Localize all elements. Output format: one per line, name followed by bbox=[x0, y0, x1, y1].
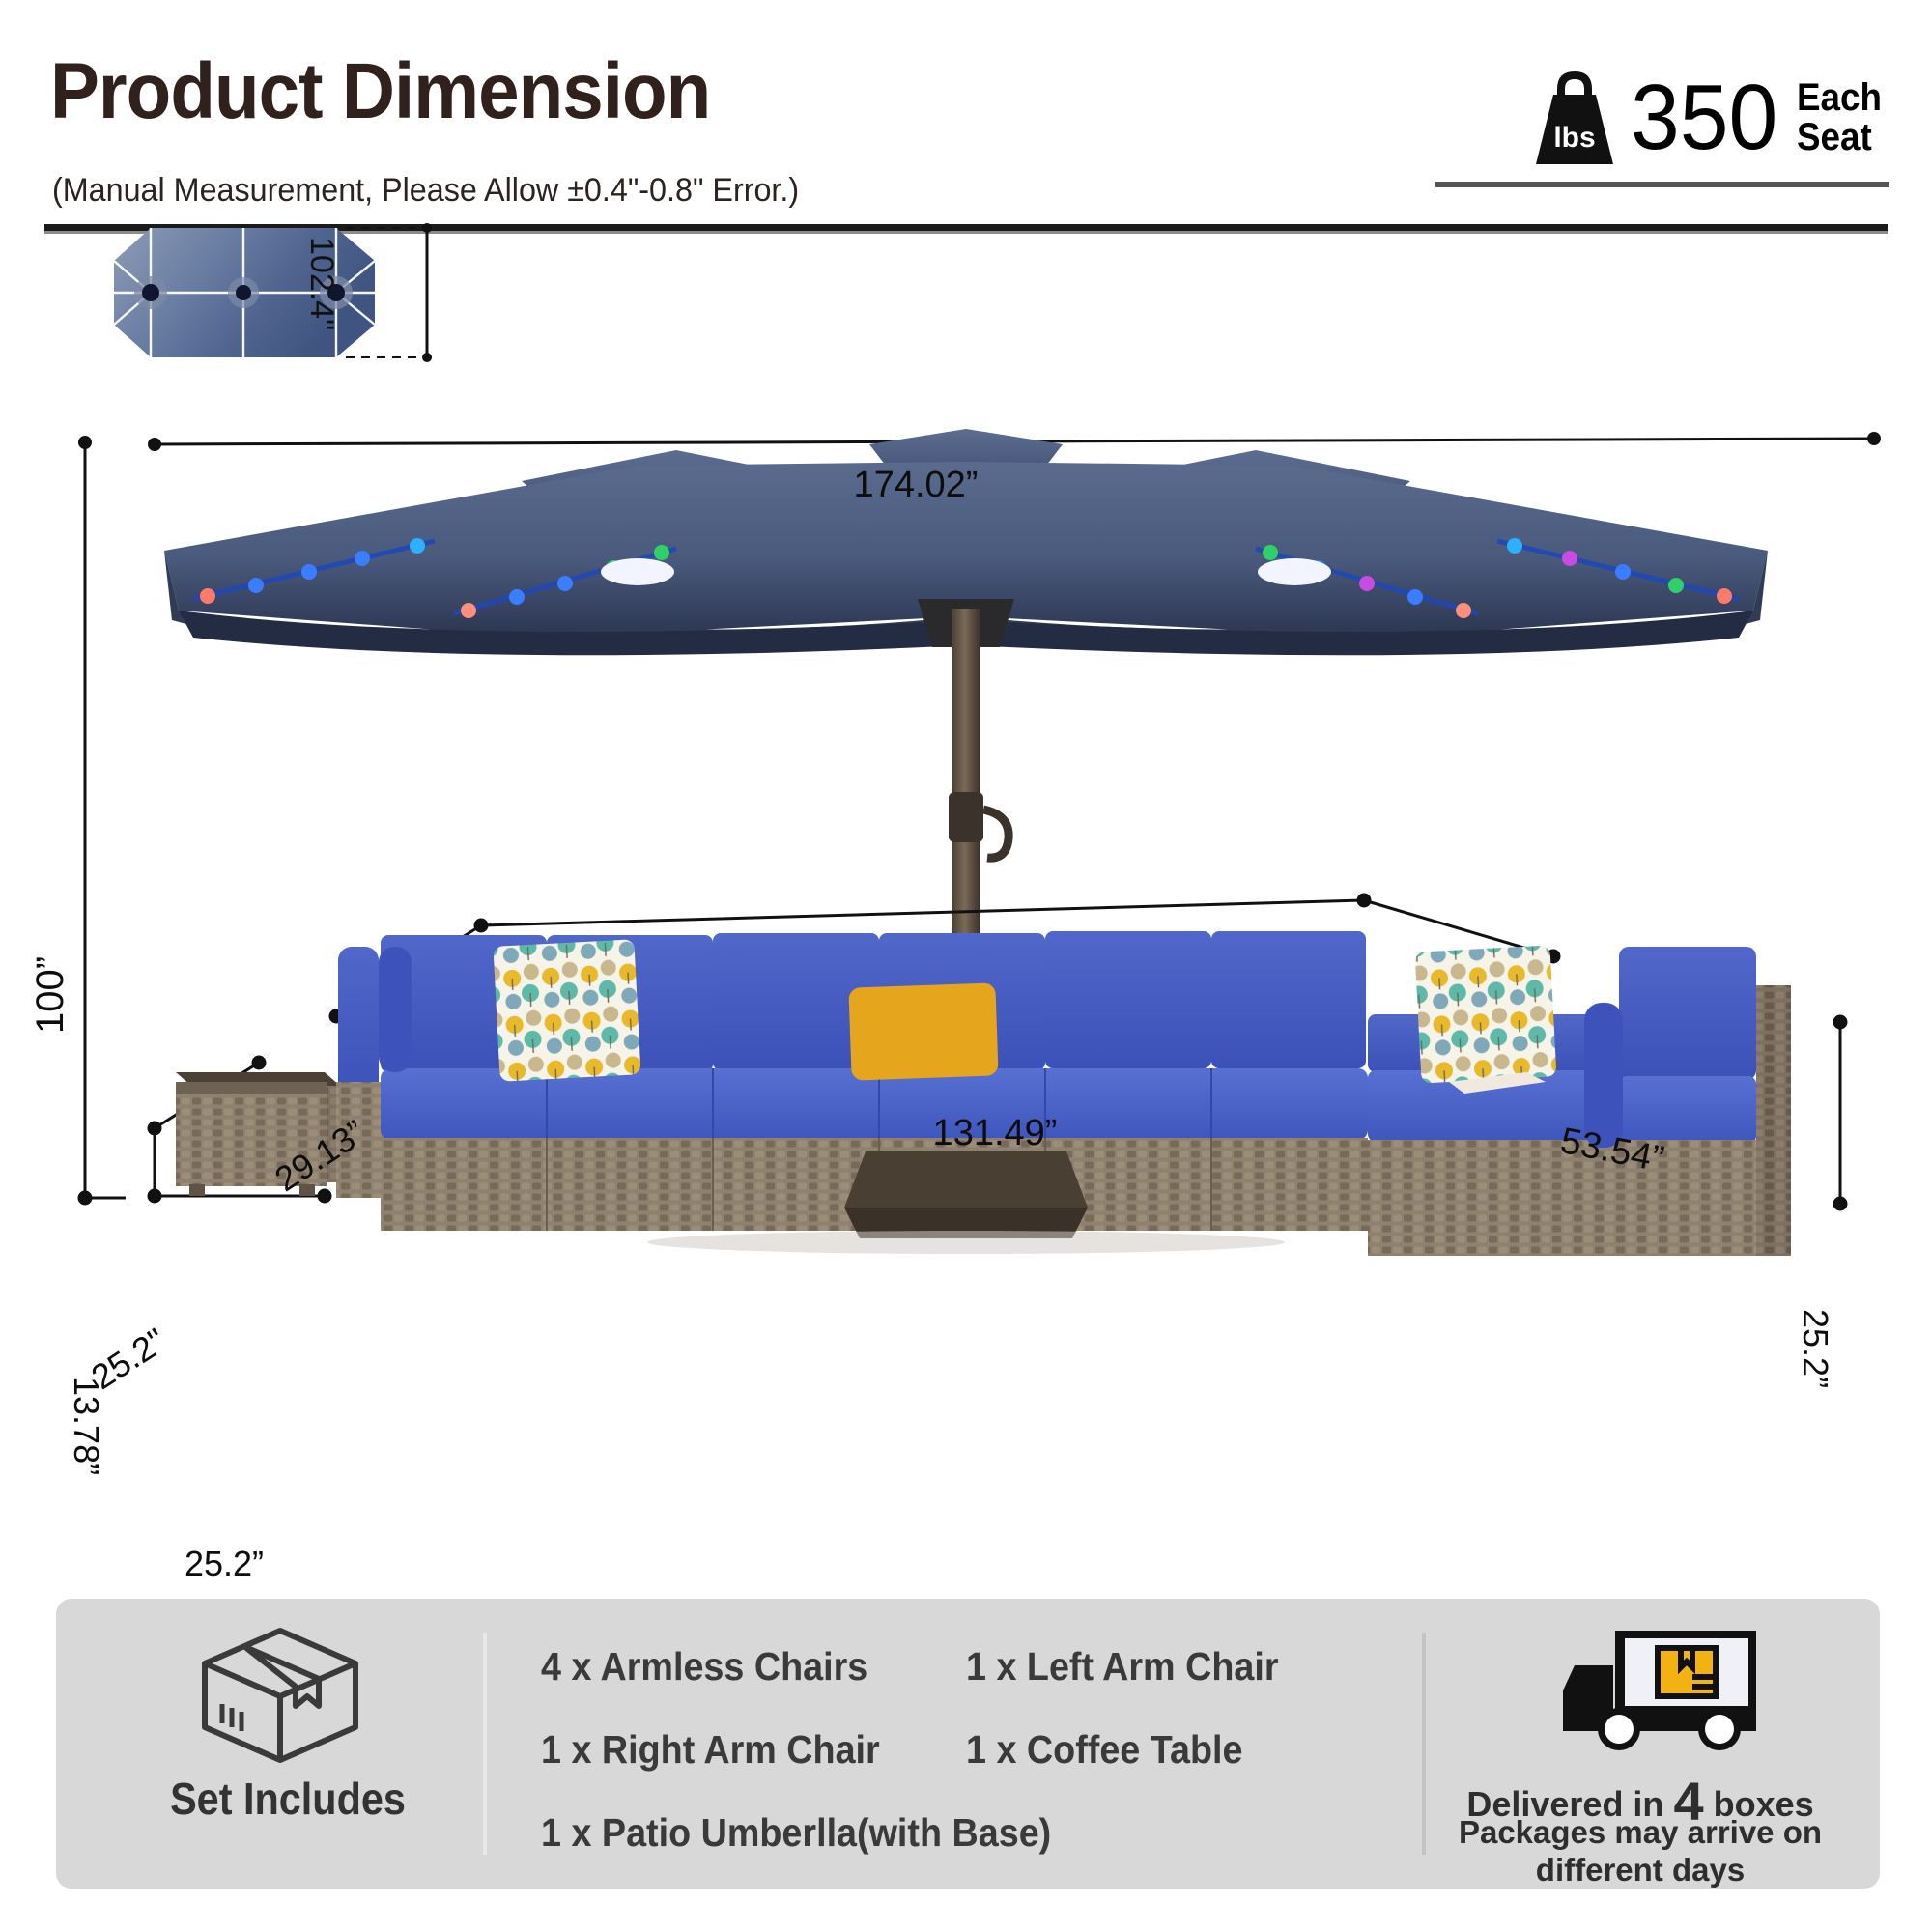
package-box-icon bbox=[193, 1623, 367, 1768]
weight-value: 350 bbox=[1631, 73, 1777, 161]
weight-qualifier-line1: Each bbox=[1797, 78, 1882, 118]
umbrella-top-view-diagram bbox=[56, 211, 462, 404]
throw-pillow-left bbox=[493, 939, 640, 1081]
weight-qualifier-line2: Seat bbox=[1797, 118, 1882, 157]
ceiling-light-left bbox=[601, 558, 674, 585]
set-includes-label: Set Includes bbox=[157, 1773, 418, 1825]
list-item: 1 x Right Arm Chair bbox=[541, 1727, 880, 1773]
weight-capacity-badge: lbs 350 Each Seat bbox=[1528, 56, 1889, 180]
set-includes-list: 4 x Armless Chairs 1 x Left Arm Chair 1 … bbox=[541, 1633, 1410, 1860]
overall-height-dimension bbox=[78, 436, 92, 1198]
list-item: 1 x Coffee Table bbox=[966, 1727, 1242, 1773]
right-arm-back bbox=[1619, 947, 1756, 1080]
panel-divider-left bbox=[483, 1633, 487, 1855]
header: Product Dimension (Manual Measurement, P… bbox=[0, 0, 1932, 232]
right-arm-side bbox=[1756, 985, 1791, 1256]
dimension-label-seat-height: 25.2” bbox=[1795, 1309, 1835, 1388]
list-item: 1 x Patio Umberlla(with Base) bbox=[541, 1810, 1051, 1856]
delivery-truck-icon bbox=[1557, 1621, 1808, 1764]
weight-bag-icon: lbs bbox=[1528, 68, 1621, 168]
page-subtitle: (Manual Measurement, Please Allow ±0.4"-… bbox=[52, 172, 799, 210]
umbrella-base bbox=[844, 1151, 1088, 1238]
list-item: 1 x Left Arm Chair bbox=[966, 1644, 1278, 1690]
throw-pillow-right bbox=[1415, 945, 1557, 1083]
throw-pillow-center bbox=[848, 982, 998, 1080]
weight-badge-underline bbox=[1435, 182, 1889, 187]
infographic-page: Product Dimension (Manual Measurement, P… bbox=[0, 0, 1932, 1932]
left-arm bbox=[338, 947, 379, 1101]
topview-dimension-label: 102.4" bbox=[302, 237, 340, 330]
page-title: Product Dimension bbox=[50, 46, 710, 137]
dimension-label-table-width: 25.2” bbox=[185, 1544, 264, 1584]
product-illustration bbox=[0, 406, 1932, 1594]
svg-text:lbs: lbs bbox=[1554, 122, 1596, 154]
ceiling-light-right bbox=[1258, 558, 1331, 585]
delivery-note: Packages may arrive on different days bbox=[1428, 1814, 1853, 1889]
list-item: 4 x Armless Chairs bbox=[541, 1644, 867, 1690]
panel-divider-right bbox=[1422, 1633, 1426, 1855]
weight-qualifier: Each Seat bbox=[1797, 78, 1882, 157]
dimension-label-overall-width: 174.02” bbox=[854, 465, 979, 506]
dimension-label-overall-height: 100” bbox=[29, 956, 72, 1034]
dimension-label-sofa-span: 131.49” bbox=[933, 1113, 1058, 1154]
crank-handle bbox=[983, 810, 1009, 858]
dimension-label-table-height: 13.78” bbox=[66, 1377, 106, 1475]
